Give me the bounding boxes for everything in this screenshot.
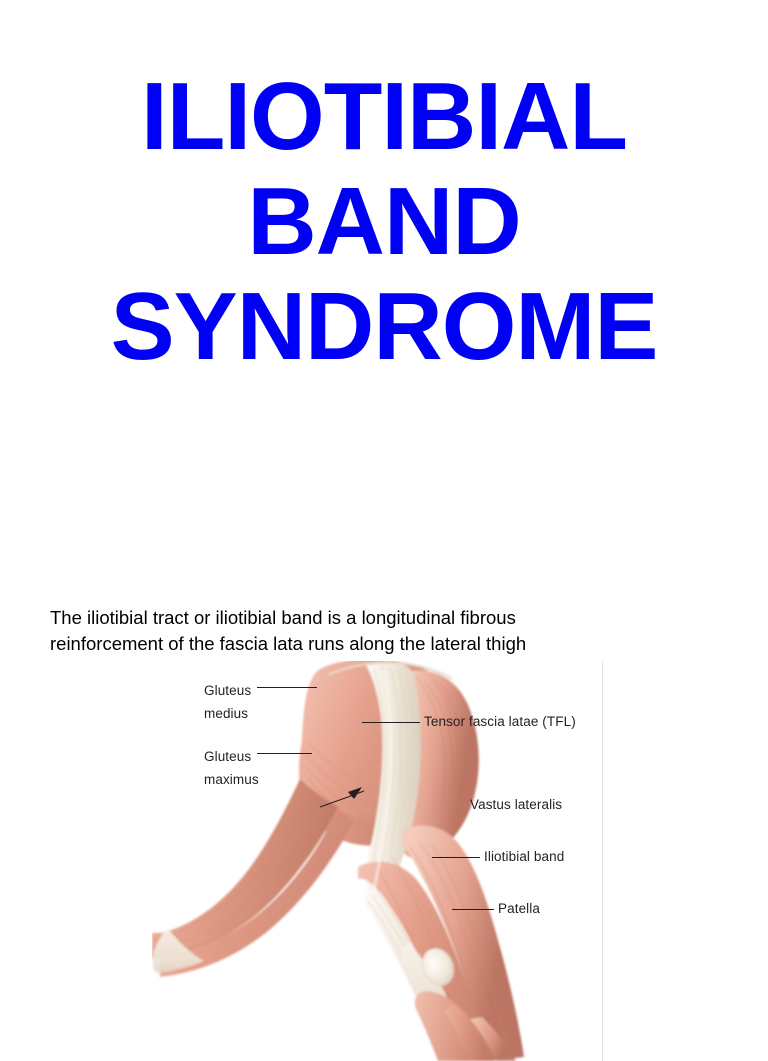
body-paragraph: The iliotibial tract or iliotibial band … — [50, 605, 690, 657]
label-iliotibial-band: Iliotibial band — [484, 849, 564, 864]
label-gluteus-medius-line-2: medius — [204, 706, 248, 721]
label-gluteus-medius: Gluteus medius — [204, 679, 251, 725]
label-gluteus-maximus-line-2: maximus — [204, 772, 259, 787]
slide-root: ILIOTIBIAL BAND SYNDROME The iliotibial … — [0, 0, 768, 1024]
label-patella: Patella — [498, 901, 540, 916]
leader-iliotibial-band — [432, 857, 480, 858]
label-gluteus-medius-line-1: Gluteus — [204, 683, 251, 698]
leader-tensor-fascia-latae — [362, 722, 420, 723]
body-line-2: reinforcement of the fascia lata runs al… — [50, 631, 690, 657]
title-line-1: ILIOTIBIAL — [0, 64, 768, 169]
label-gluteus-maximus-line-1: Gluteus — [204, 749, 251, 764]
label-vastus-lateralis: Vastus lateralis — [470, 797, 562, 812]
label-gluteus-maximus: Gluteus maximus — [204, 745, 259, 791]
label-tensor-fascia-latae: Tensor fascia latae (TFL) — [424, 714, 576, 729]
leader-gluteus-maximus — [257, 753, 312, 754]
page-title: ILIOTIBIAL BAND SYNDROME — [0, 64, 768, 379]
title-line-2: BAND — [0, 169, 768, 274]
body-line-1: The iliotibial tract or iliotibial band … — [50, 605, 690, 631]
leader-gluteus-medius — [257, 687, 317, 688]
leader-patella — [452, 909, 494, 910]
anatomy-figure: Gluteus medius Gluteus maximus Tensor fa… — [152, 661, 603, 1061]
title-line-3: SYNDROME — [0, 274, 768, 379]
